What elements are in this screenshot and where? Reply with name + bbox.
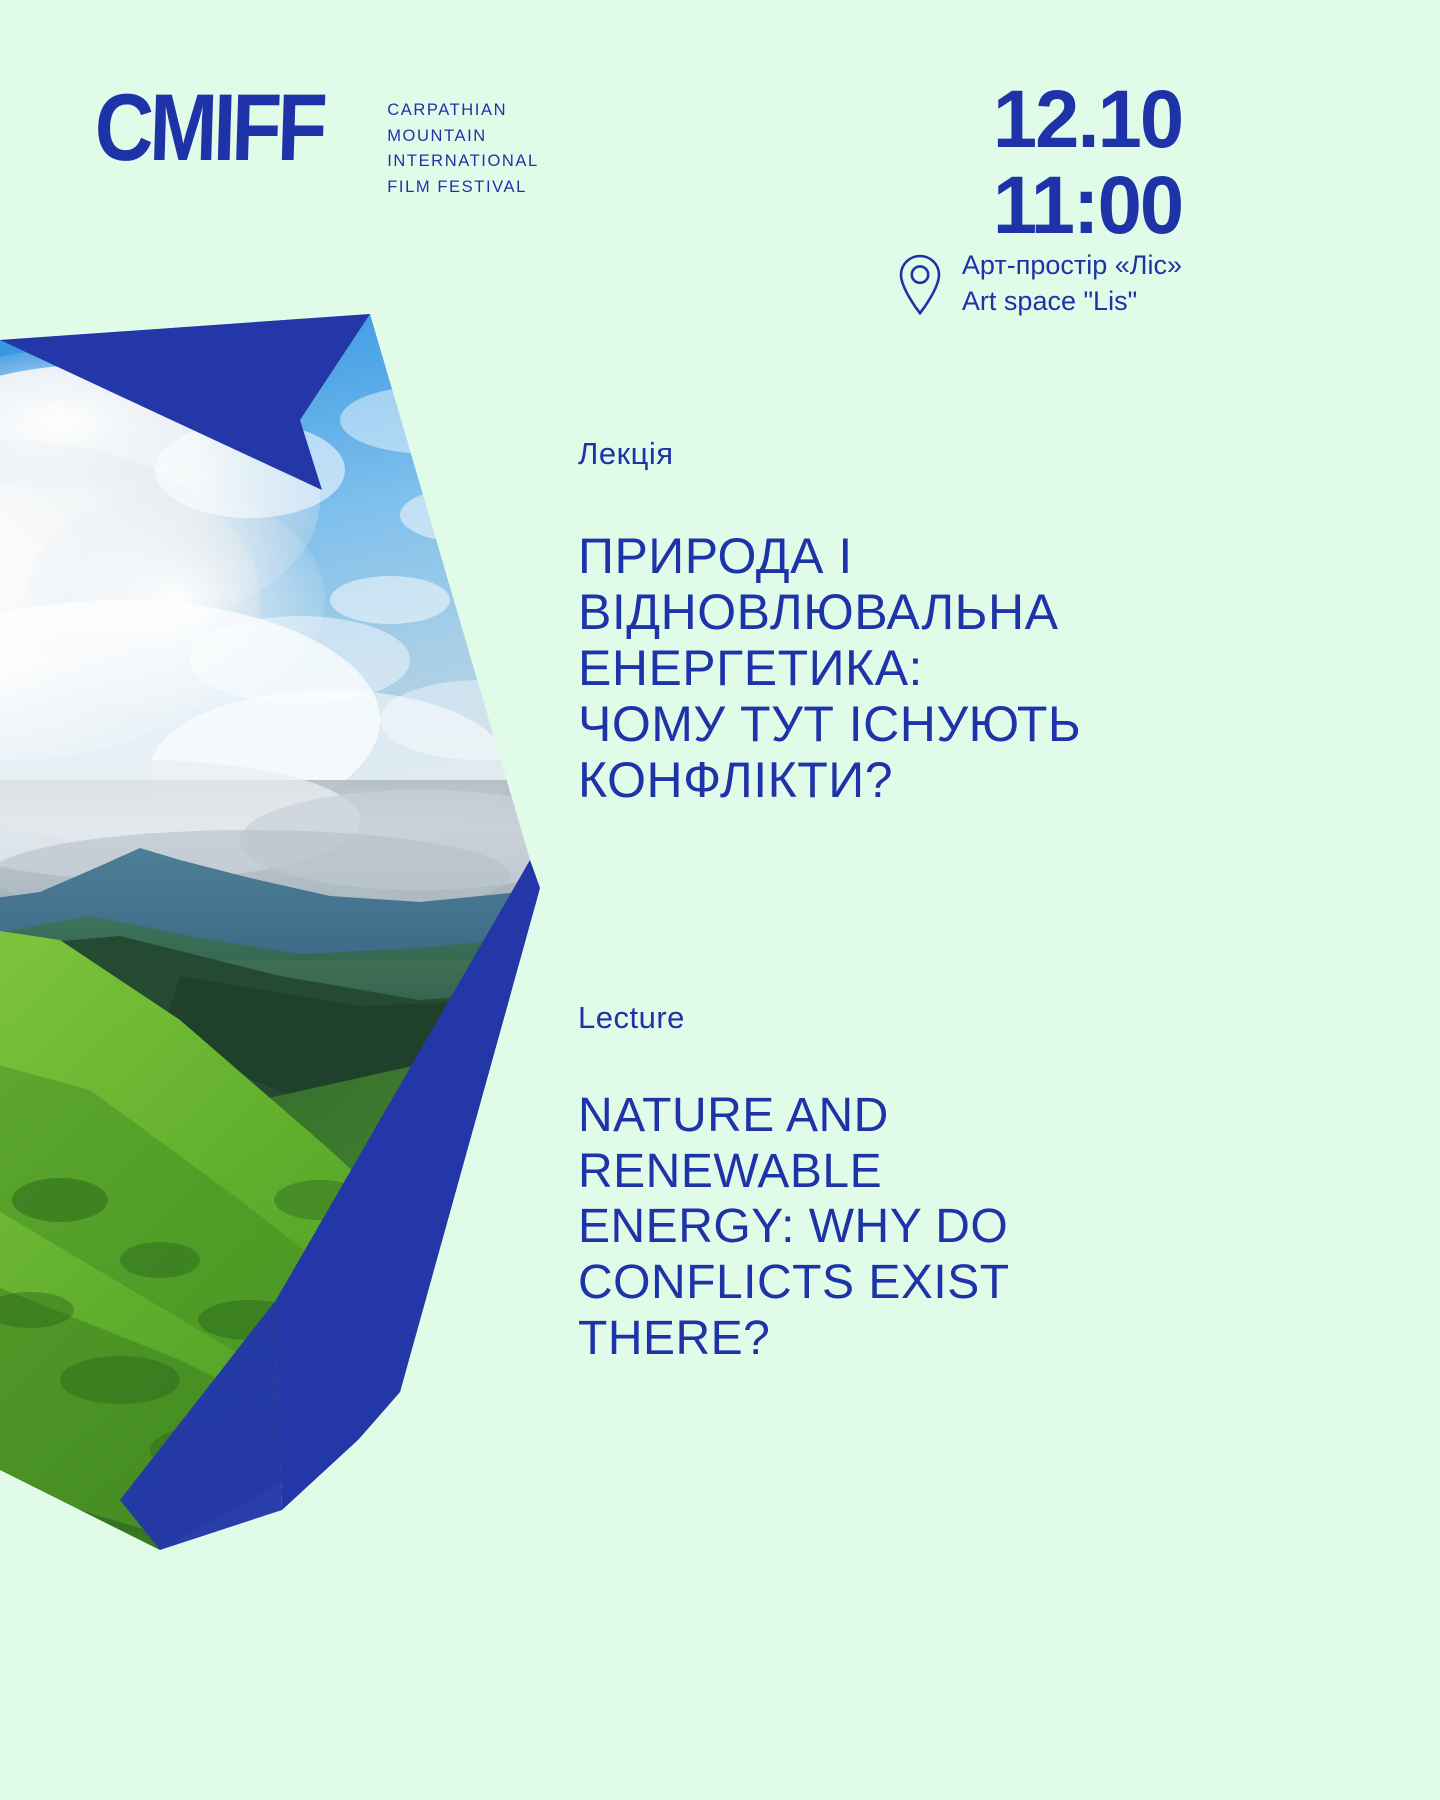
venue-names: Арт-простір «Ліс» Art space "Lis" — [962, 248, 1182, 319]
logo-tagline-line: INTERNATIONAL — [387, 149, 539, 175]
event-venue: Арт-простір «Ліс» Art space "Lis" — [898, 248, 1182, 321]
section-english: Lecture NATURE AND RENEWABLE ENERGY: WHY… — [578, 1000, 1218, 1366]
venue-name-uk: Арт-простір «Ліс» — [962, 248, 1182, 284]
logo-tagline-line: FILM FESTIVAL — [387, 175, 539, 201]
section-ukrainian: Лекція ПРИРОДА І ВІДНОВЛЮВАЛЬНА ЕНЕРГЕТИ… — [578, 436, 1218, 808]
headline-line: RENEWABLE — [578, 1144, 1218, 1200]
headline-line: ЕНЕРГЕТИКА: — [578, 640, 1218, 696]
headline-line: NATURE AND — [578, 1088, 1218, 1144]
kicker-ukrainian: Лекція — [578, 436, 1218, 472]
event-time: 11:00 — [993, 166, 1182, 246]
headline-line: ВІДНОВЛЮВАЛЬНА — [578, 584, 1218, 640]
venue-name-en: Art space "Lis" — [962, 284, 1182, 320]
headline-line: ПРИРОДА І — [578, 528, 1218, 584]
headline-line: CONFLICTS EXIST — [578, 1255, 1218, 1311]
event-datetime: 12.10 11:00 — [987, 80, 1182, 247]
logo-tagline-line: CARPATHIAN — [387, 98, 539, 124]
headline-line: THERE? — [578, 1311, 1218, 1367]
logo-tagline: CARPATHIAN MOUNTAIN INTERNATIONAL FILM F… — [387, 98, 539, 200]
headline-line: ЧОМУ ТУТ ІСНУЮТЬ — [578, 696, 1218, 752]
headline-line: КОНФЛІКТИ? — [578, 752, 1218, 808]
headline-line: ENERGY: WHY DO — [578, 1199, 1218, 1255]
logo-tagline-line: MOUNTAIN — [387, 124, 539, 150]
logo-wordmark: CMIFF — [94, 90, 324, 168]
poster-canvas: CMIFF CARPATHIAN MOUNTAIN INTERNATIONAL … — [0, 0, 1440, 1800]
collage-svg — [0, 300, 620, 1640]
headline-ukrainian: ПРИРОДА І ВІДНОВЛЮВАЛЬНА ЕНЕРГЕТИКА: ЧОМ… — [578, 528, 1218, 808]
mountain-photo-collage — [0, 300, 620, 1640]
headline-english: NATURE AND RENEWABLE ENERGY: WHY DO CONF… — [578, 1088, 1218, 1366]
location-pin-icon — [898, 254, 942, 321]
festival-logo: CMIFF CARPATHIAN MOUNTAIN INTERNATIONAL … — [96, 88, 539, 200]
event-date: 12.10 — [993, 80, 1182, 160]
kicker-english: Lecture — [578, 1000, 1218, 1036]
